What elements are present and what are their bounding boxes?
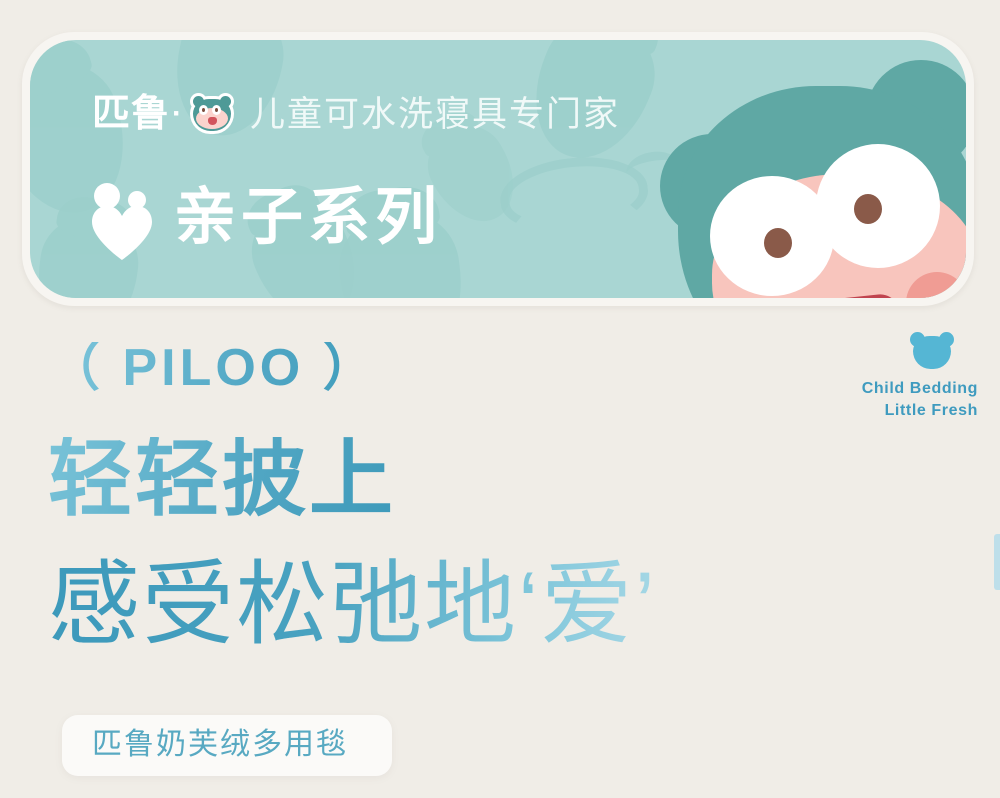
brand-name: 匹鲁 bbox=[92, 95, 170, 133]
bear-head-body bbox=[913, 336, 951, 369]
product-name: 匹鲁奶芙绒多用毯 bbox=[92, 728, 348, 761]
page-root: 匹鲁 · 儿童可水洗寝具专门家 bbox=[0, 0, 1000, 798]
brand-latin-name: （ PILOO ） bbox=[48, 342, 379, 394]
heart-icon bbox=[90, 205, 154, 261]
logo-tagline-line2: Little Fresh bbox=[862, 400, 978, 422]
hero-banner: 匹鲁 · 儿童可水洗寝具专门家 bbox=[22, 32, 974, 306]
series-row: 亲子系列 bbox=[86, 178, 442, 258]
scroll-indicator[interactable] bbox=[994, 534, 1000, 590]
brand-row: 匹鲁 · 儿童可水洗寝具专门家 bbox=[92, 88, 620, 140]
bear-face-pupil-right bbox=[215, 108, 218, 112]
logo-tagline-line1: Child Bedding bbox=[862, 378, 978, 400]
bear-face-pupil-left bbox=[202, 108, 205, 112]
brand-logo-block: Child Bedding Little Fresh bbox=[862, 332, 978, 421]
bear-face-icon bbox=[188, 92, 236, 136]
bear-head-icon bbox=[910, 332, 954, 370]
brand-tagline: 儿童可水洗寝具专门家 bbox=[250, 97, 620, 132]
headline-secondary: 感受松弛地‘爱’ bbox=[48, 557, 657, 654]
brand-separator: · bbox=[172, 99, 182, 129]
bear-mascot-illustration bbox=[616, 46, 966, 298]
mascot-pupil-left bbox=[764, 228, 792, 258]
product-name-pill[interactable]: 匹鲁奶芙绒多用毯 bbox=[62, 715, 392, 776]
headline-primary: 轻轻披上 bbox=[48, 437, 396, 521]
parent-child-heart-icon bbox=[86, 183, 158, 253]
series-label: 亲子系列 bbox=[174, 187, 442, 249]
bear-face-mouth bbox=[208, 117, 217, 125]
mascot-pupil-right bbox=[854, 194, 882, 224]
hero-banner-inner: 匹鲁 · 儿童可水洗寝具专门家 bbox=[30, 40, 966, 298]
